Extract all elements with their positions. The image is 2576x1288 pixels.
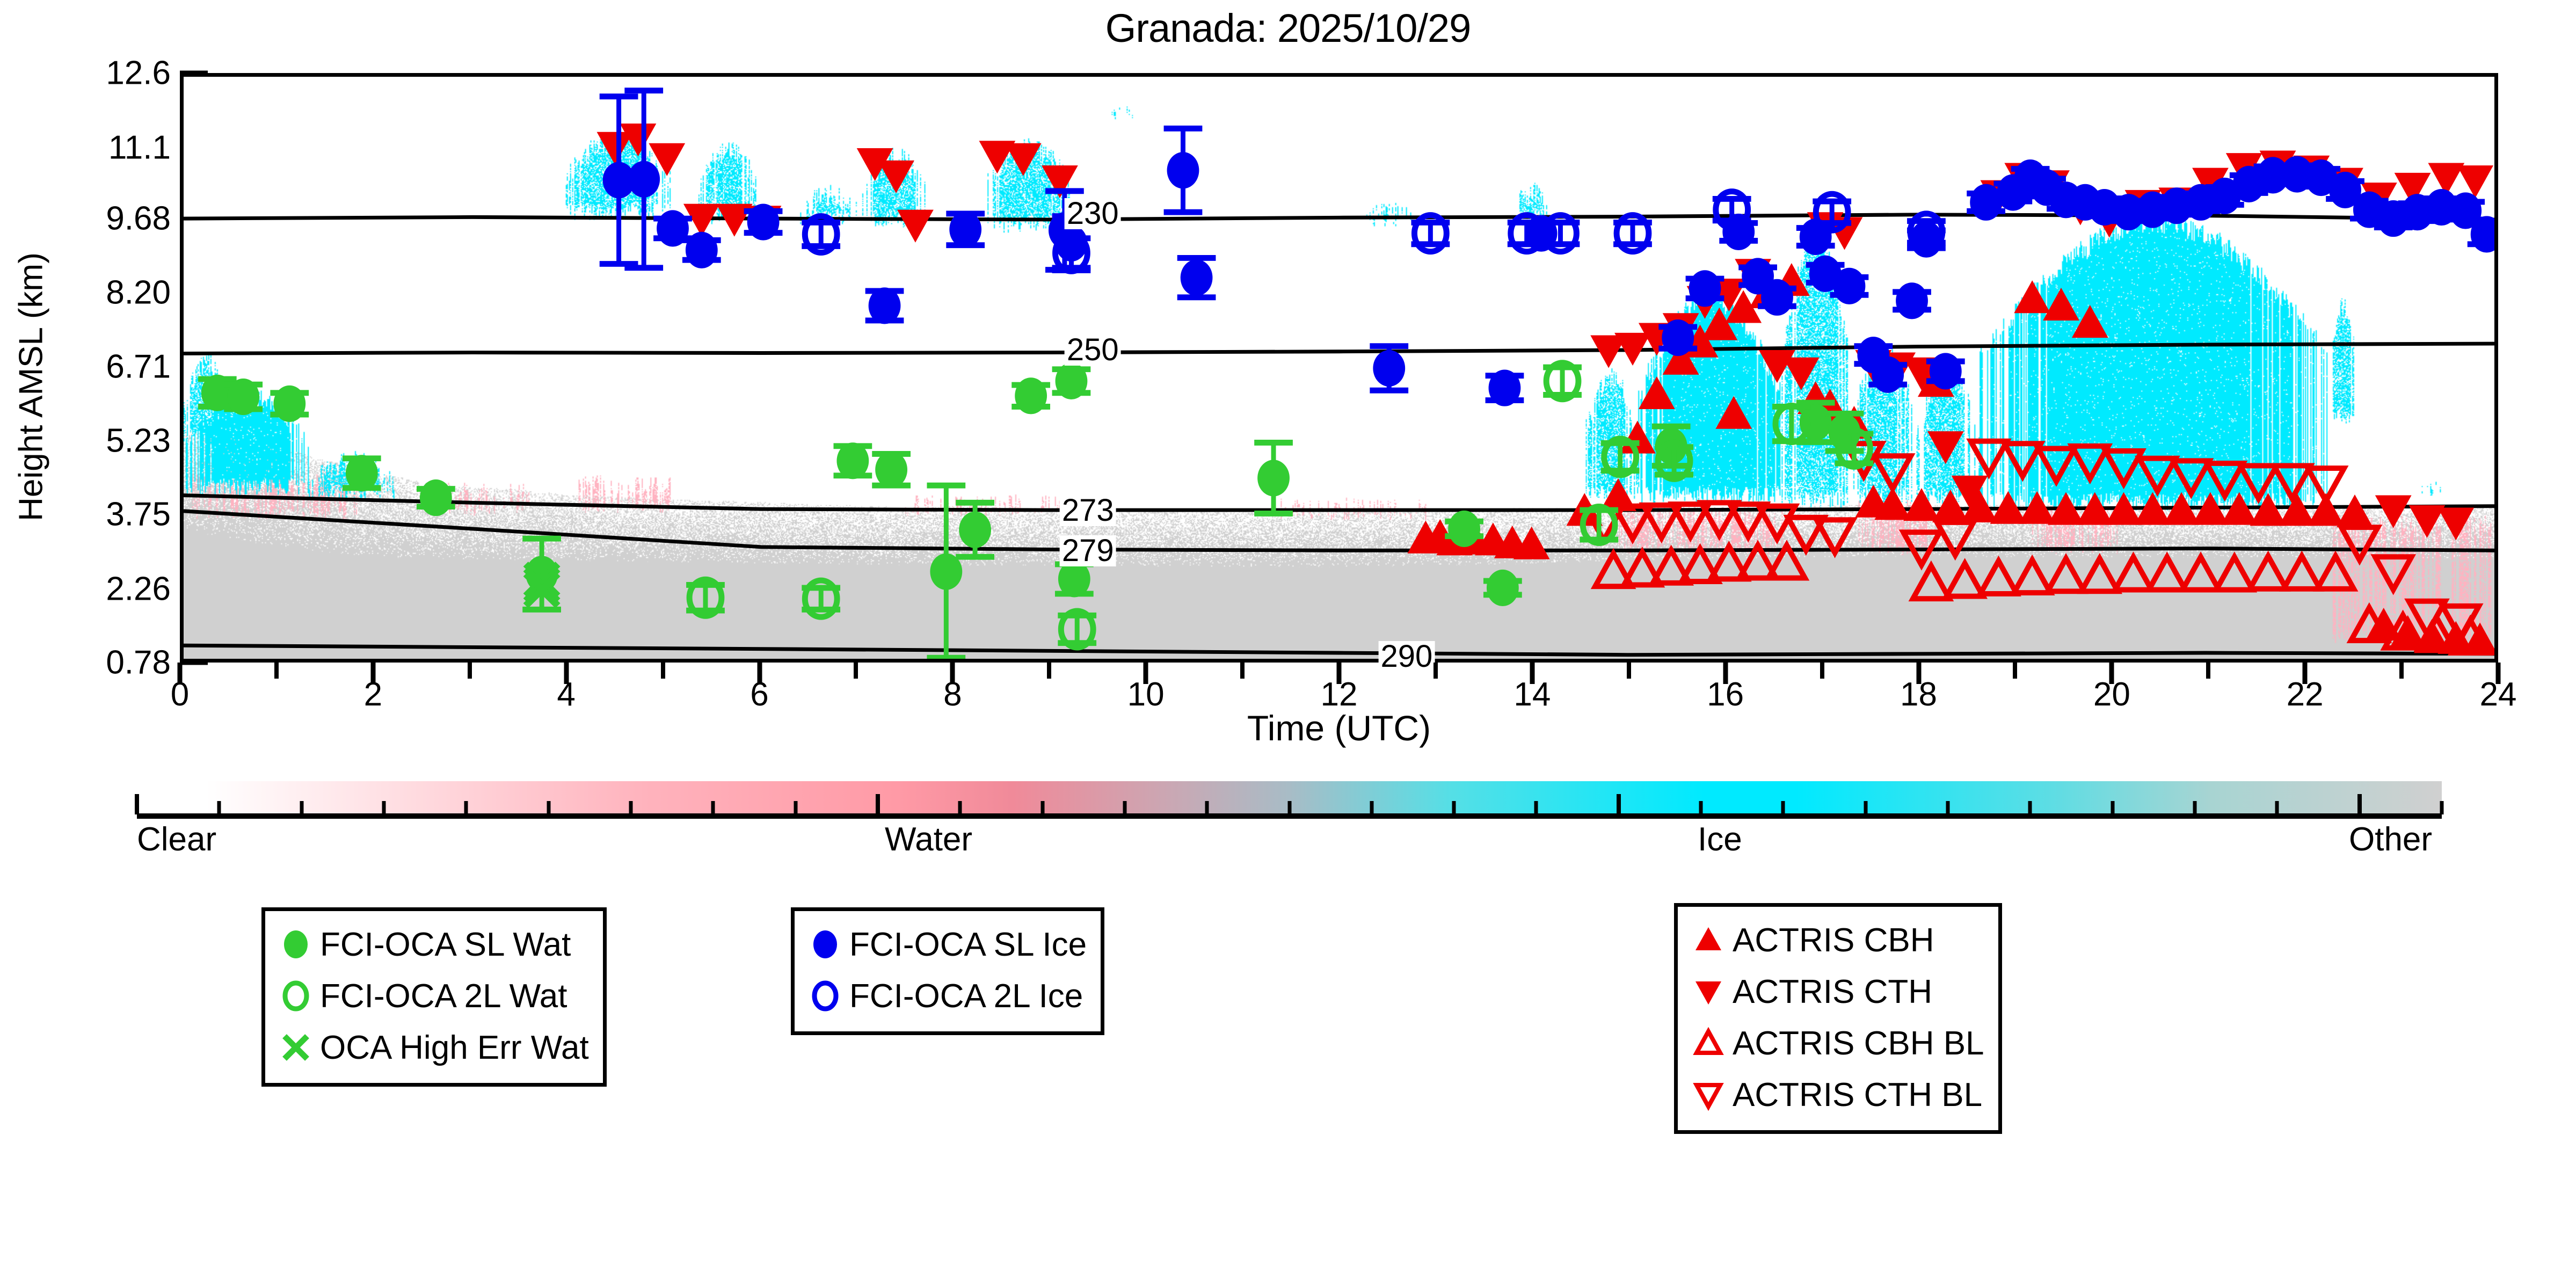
marker-circle-filled xyxy=(959,512,991,548)
isotherm-line xyxy=(184,344,2494,353)
marker-circle-filled xyxy=(1833,268,1866,304)
data-overlay xyxy=(184,77,2494,659)
y-tick-label: 8.20 xyxy=(106,273,171,311)
legend-item[interactable]: ACTRIS CTH xyxy=(1689,966,1984,1017)
colorbar-tick xyxy=(1123,801,1126,814)
marker-circle-filled xyxy=(1689,270,1721,307)
colorbar-tick xyxy=(876,794,880,814)
isotherm-line xyxy=(184,645,2494,654)
marker-triangle-up-open xyxy=(1947,563,1983,596)
marker-triangle-up-filled xyxy=(1639,376,1675,409)
legend-actris-box[interactable]: ACTRIS CBHACTRIS CTHACTRIS CBH BLACTRIS … xyxy=(1674,903,2002,1134)
colorbar-tick xyxy=(300,801,303,814)
marker-triangle-down-open xyxy=(2207,463,2243,496)
colorbar-label-water: Water xyxy=(885,820,972,858)
marker-triangle-up-filled xyxy=(2072,305,2108,338)
marker-circle-filled xyxy=(1930,353,1962,389)
marker-circle-filled xyxy=(346,455,378,491)
legend-marker-slot xyxy=(805,925,845,964)
chart-page: Granada: 2025/10/29 Height AMSL (km) 12.… xyxy=(0,0,2576,1288)
marker-triangle-up-filled xyxy=(2014,280,2050,313)
isotherm-label: 273 xyxy=(1060,495,1116,526)
marker-triangle-down-open xyxy=(1971,441,2007,474)
isotherm-label: 230 xyxy=(1065,198,1121,229)
marker-triangle-up-open xyxy=(2048,558,2084,591)
marker-circle-filled xyxy=(1761,279,1793,316)
colorbar-tick xyxy=(547,801,550,814)
isotherm-label: 290 xyxy=(1379,641,1435,672)
legend-marker-triangle-down-filled xyxy=(1689,972,1728,1012)
marker-circle-filled xyxy=(869,287,901,324)
legend-marker-triangle-down-open xyxy=(1689,1075,1728,1115)
legend-item[interactable]: ACTRIS CTH BL xyxy=(1689,1069,1984,1120)
legend-marker-slot xyxy=(276,1028,316,1067)
marker-circle-filled xyxy=(1167,152,1199,188)
colorbar-tick xyxy=(1040,801,1044,814)
marker-circle-filled xyxy=(1487,570,1519,606)
colorbar-tick xyxy=(2193,801,2197,814)
legend-marker-triangle-up-filled xyxy=(1689,920,1728,960)
marker-circle-filled xyxy=(1015,377,1047,414)
marker-triangle-down-open xyxy=(2274,465,2311,498)
colorbar-tick xyxy=(2275,801,2279,814)
legend-water-box[interactable]: FCI-OCA SL WatFCI-OCA 2L WatOCA High Err… xyxy=(261,907,607,1087)
marker-triangle-up-open xyxy=(2182,557,2219,590)
marker-triangle-up-open xyxy=(1981,561,2017,594)
legend-marker-slot xyxy=(276,925,316,964)
colorbar-tick xyxy=(1205,801,1209,814)
marker-circle-filled xyxy=(420,479,452,516)
x-tick-mark-minor xyxy=(2013,663,2017,679)
marker-triangle-down-open xyxy=(2308,468,2344,501)
legend-item-label: FCI-OCA 2L Wat xyxy=(320,977,567,1015)
legend-item[interactable]: FCI-OCA SL Wat xyxy=(276,919,589,970)
marker-triangle-up-filled xyxy=(2279,493,2315,526)
y-tick-label: 11.1 xyxy=(108,129,171,167)
legend-item[interactable]: FCI-OCA SL Ice xyxy=(805,919,1087,970)
marker-triangle-up-open xyxy=(2149,557,2185,590)
marker-circle-filled xyxy=(836,442,869,479)
legend-marker-slot xyxy=(1689,1075,1728,1115)
marker-triangle-down-open xyxy=(2173,461,2209,493)
marker-triangle-down-filled xyxy=(878,161,914,193)
legend-item[interactable]: OCA High Err Wat xyxy=(276,1022,589,1073)
legend-item[interactable]: FCI-OCA 2L Ice xyxy=(805,970,1087,1022)
legend-marker-circle-open xyxy=(276,976,316,1016)
marker-triangle-up-filled xyxy=(2337,494,2373,527)
colorbar-tick xyxy=(1781,801,1785,814)
y-tick-label: 5.23 xyxy=(106,421,171,460)
legend-item-label: OCA High Err Wat xyxy=(320,1029,589,1067)
marker-triangle-down-open xyxy=(1817,520,1853,552)
y-axis-ticks: 12.611.19.688.206.715.233.752.260.78 xyxy=(0,0,171,1288)
legend-item-label: FCI-OCA SL Ice xyxy=(849,926,1087,964)
marker-triangle-down-open xyxy=(2038,448,2075,481)
colorbar-label-ice: Ice xyxy=(1698,820,1742,858)
legend-marker-triangle-up-open xyxy=(1689,1023,1728,1063)
marker-triangle-up-filled xyxy=(2043,288,2079,321)
marker-triangle-down-filled xyxy=(2437,507,2474,540)
marker-triangle-up-open xyxy=(2014,560,2050,593)
legend-item[interactable]: ACTRIS CBH xyxy=(1689,914,1984,966)
colorbar-tick xyxy=(1864,801,1867,814)
marker-triangle-up-open xyxy=(2317,556,2354,589)
colorbar-tick xyxy=(2111,801,2114,814)
y-tick-label: 9.68 xyxy=(106,200,171,238)
x-tick-mark-minor xyxy=(1240,663,1245,679)
colorbar-tick xyxy=(135,794,139,814)
marker-circle-filled xyxy=(1448,511,1480,547)
legend-item[interactable]: ACTRIS CBH BL xyxy=(1689,1017,1984,1069)
marker-triangle-down-filled xyxy=(897,210,934,243)
marker-triangle-down-filled xyxy=(2375,496,2412,528)
legend-marker-slot xyxy=(805,976,845,1016)
marker-circle-filled xyxy=(1489,370,1521,406)
colorbar-tick xyxy=(1946,801,1950,814)
x-tick-mark-minor xyxy=(854,663,858,679)
legend-marker-slot xyxy=(1689,1023,1728,1063)
colorbar-tick xyxy=(1617,794,1621,814)
x-tick-mark-minor xyxy=(274,663,279,679)
x-tick-mark-minor xyxy=(1627,663,1631,679)
legend-marker-circle-filled xyxy=(276,925,316,964)
marker-circle-filled xyxy=(1181,259,1213,296)
colorbar-label-clear: Clear xyxy=(137,820,216,858)
marker-triangle-down-open xyxy=(2139,459,2175,491)
marker-triangle-up-filled xyxy=(1715,396,1752,429)
colorbar-tick xyxy=(629,801,632,814)
legend-marker-slot xyxy=(1689,920,1728,960)
legend-marker-circle-open xyxy=(805,976,845,1016)
x-tick-mark-minor xyxy=(1433,663,1438,679)
marker-triangle-down-filled xyxy=(1927,431,1964,464)
marker-circle-filled xyxy=(1373,350,1405,387)
y-tick-label: 6.71 xyxy=(106,348,171,386)
x-tick-mark-minor xyxy=(2206,663,2210,679)
legend-item-label: FCI-OCA 2L Ice xyxy=(849,977,1083,1015)
marker-circle-filled xyxy=(1056,363,1088,399)
legend-ice-box[interactable]: FCI-OCA SL IceFCI-OCA 2L Ice xyxy=(791,907,1104,1035)
x-tick-mark-minor xyxy=(468,663,472,679)
colorbar-tick xyxy=(794,801,797,814)
legend-marker-x-cross xyxy=(276,1028,316,1067)
marker-triangle-up-filled xyxy=(1903,488,1940,521)
x-tick-mark-minor xyxy=(661,663,665,679)
x-tick-mark-minor xyxy=(1820,663,1824,679)
colorbar-tick xyxy=(1699,801,1703,814)
marker-circle-filled xyxy=(273,385,305,422)
marker-circle-filled xyxy=(1896,282,1928,319)
legend-marker-circle-filled xyxy=(805,925,845,964)
marker-triangle-up-open xyxy=(2115,557,2152,590)
plot-inner xyxy=(184,77,2494,659)
marker-triangle-up-open xyxy=(2250,556,2287,589)
marker-circle-filled xyxy=(949,211,981,248)
legend-item-label: FCI-OCA SL Wat xyxy=(320,926,571,964)
colorbar-tick xyxy=(464,801,468,814)
marker-triangle-down-filled xyxy=(1005,143,1042,176)
colorbar-tick xyxy=(1370,801,1373,814)
y-tick-label: 2.26 xyxy=(106,570,171,608)
y-tick-label: 0.78 xyxy=(106,644,171,682)
colorbar-tick xyxy=(382,801,385,814)
colorbar-tick xyxy=(958,801,962,814)
y-tick-label: 12.6 xyxy=(106,54,171,92)
legend-item-label: ACTRIS CTH BL xyxy=(1733,1076,1982,1114)
marker-triangle-up-open xyxy=(1913,566,1949,599)
marker-triangle-up-open xyxy=(2283,556,2320,589)
marker-circle-filled xyxy=(1257,460,1290,496)
colorbar-label-other: Other xyxy=(2349,820,2432,858)
legend-marker-slot xyxy=(276,976,316,1016)
x-tick-mark-minor xyxy=(1047,663,1051,679)
marker-circle-filled xyxy=(227,379,259,415)
marker-circle-filled xyxy=(1662,319,1694,356)
x-tick-mark-minor xyxy=(2399,663,2404,679)
marker-circle-filled xyxy=(628,161,660,198)
legend-item-label: ACTRIS CBH BL xyxy=(1733,1024,1984,1063)
marker-circle-filled xyxy=(1872,356,1904,393)
x-axis-title: Time (UTC) xyxy=(180,708,2498,748)
colorbar-tick xyxy=(711,801,715,814)
colorbar-tick xyxy=(217,801,221,814)
colorbar-tick xyxy=(1534,801,1538,814)
page-title: Granada: 2025/10/29 xyxy=(0,5,2576,51)
legend-marker-slot xyxy=(1689,972,1728,1012)
legend-item[interactable]: FCI-OCA 2L Wat xyxy=(276,970,589,1022)
marker-triangle-down-open xyxy=(2240,465,2277,498)
colorbar-tick xyxy=(1287,801,1291,814)
y-tick-label: 3.75 xyxy=(106,496,171,534)
isotherm-label: 250 xyxy=(1065,334,1121,366)
marker-triangle-up-open xyxy=(2082,558,2118,591)
legend-item-label: ACTRIS CTH xyxy=(1733,973,1932,1011)
colorbar-tick xyxy=(2440,801,2444,814)
colorbar-tick xyxy=(2357,794,2362,814)
colorbar-tick xyxy=(1452,801,1456,814)
marker-triangle-down-open xyxy=(2375,557,2412,590)
marker-circle-filled xyxy=(686,232,718,268)
legend-item-label: ACTRIS CBH xyxy=(1733,921,1934,959)
plot-area xyxy=(180,73,2498,663)
marker-circle-filled xyxy=(875,452,907,488)
marker-triangle-down-open xyxy=(1874,456,1911,489)
isotherm-label: 279 xyxy=(1060,535,1116,566)
marker-circle-filled xyxy=(747,203,780,240)
colorbar-tick xyxy=(2028,801,2032,814)
marker-triangle-up-open xyxy=(2216,557,2253,590)
